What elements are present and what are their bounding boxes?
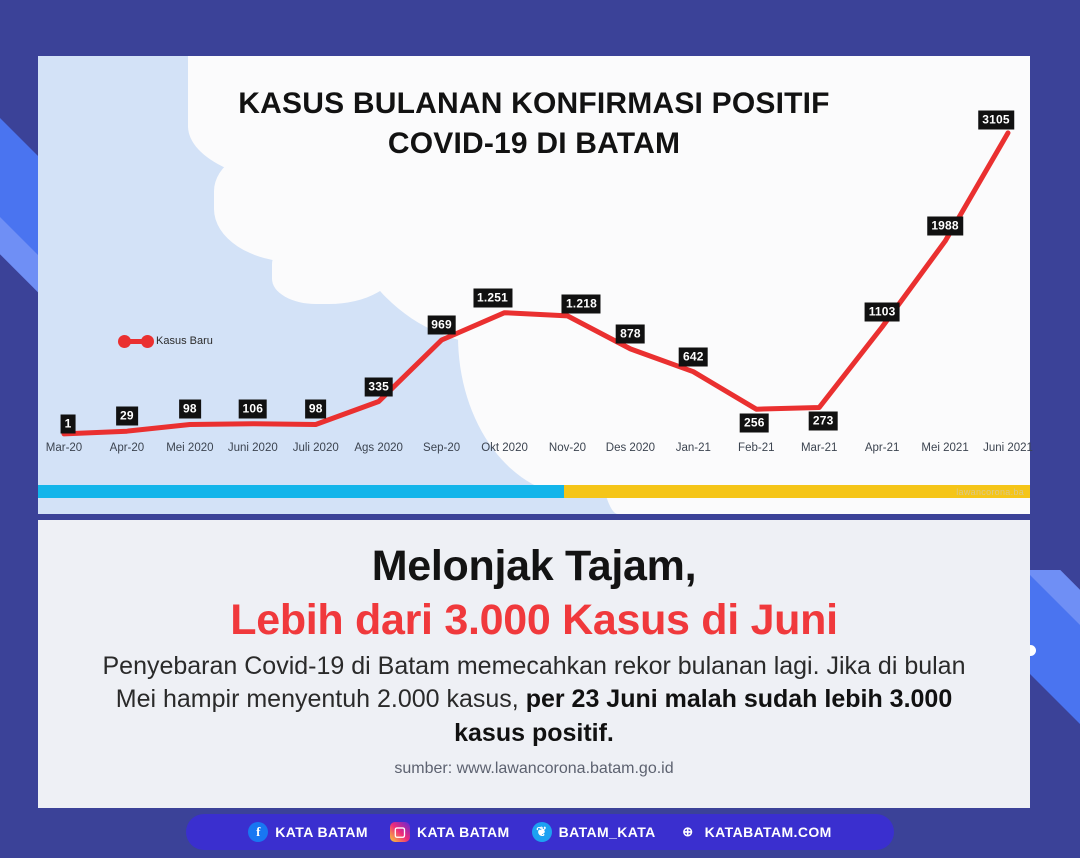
data-point-label: 642 <box>679 347 708 366</box>
data-point-label: 969 <box>427 316 456 335</box>
data-point-label: 273 <box>809 411 838 430</box>
decorative-color-strip <box>38 485 1030 498</box>
x-axis-tick-label: Nov-20 <box>549 442 586 454</box>
facebook-icon[interactable]: f <box>248 822 268 842</box>
x-axis-tick-label: Mar-20 <box>46 442 82 454</box>
data-point-label: 1.251 <box>473 288 512 307</box>
x-axis-tick-label: Juli 2020 <box>293 442 339 454</box>
x-axis-tick-label: Juni 2020 <box>228 442 278 454</box>
strip-cyan-segment <box>38 485 564 498</box>
chart-legend: Kasus Baru <box>118 334 213 348</box>
social-link[interactable]: ❦BATAM_KATA <box>532 822 656 842</box>
legend-label: Kasus Baru <box>156 335 213 347</box>
social-label: BATAM_KATA <box>559 824 656 840</box>
chart-title-line-2: COVID-19 DI BATAM <box>38 124 1030 164</box>
data-point-label: 98 <box>179 400 201 419</box>
headline-primary: Melonjak Tajam, <box>38 542 1030 591</box>
data-point-label: 335 <box>364 377 393 396</box>
data-point-label: 256 <box>740 414 769 433</box>
summary-card: Melonjak Tajam, Lebih dari 3.000 Kasus d… <box>38 520 1030 808</box>
globe-icon[interactable]: ⊕ <box>678 822 698 842</box>
twitter-icon[interactable]: ❦ <box>532 822 552 842</box>
social-footer-bar: fKATA BATAM▢KATA BATAM❦BATAM_KATA⊕KATABA… <box>186 814 894 850</box>
data-point-label: 106 <box>238 399 267 418</box>
page-title: KASUS BULANAN KONFIRMASI POSITIF COVID-1… <box>38 84 1030 164</box>
data-point-label: 1988 <box>927 217 963 236</box>
headline-secondary: Lebih dari 3.000 Kasus di Juni <box>38 596 1030 645</box>
x-axis-tick-label: Jan-21 <box>676 442 711 454</box>
source-line: sumber: www.lawancorona.batam.go.id <box>38 760 1030 778</box>
data-point-label: 29 <box>116 407 138 426</box>
infographic-root: KASUS BULANAN KONFIRMASI POSITIF COVID-1… <box>0 0 1080 858</box>
social-link[interactable]: ⊕KATABATAM.COM <box>678 822 832 842</box>
social-label: KATA BATAM <box>275 824 368 840</box>
x-axis-tick-label: Juni 2021 <box>983 442 1033 454</box>
data-point-label: 1103 <box>865 303 900 322</box>
watermark-text: lawancorona.ba <box>956 487 1024 497</box>
chart-title-line-1: KASUS BULANAN KONFIRMASI POSITIF <box>38 84 1030 124</box>
social-link[interactable]: ▢KATA BATAM <box>390 822 510 842</box>
body-text-bold: per 23 Juni malah sudah lebih 3.000 kasu… <box>454 685 952 746</box>
data-point-label: 98 <box>305 400 327 419</box>
social-link[interactable]: fKATA BATAM <box>248 822 368 842</box>
chart-card: KASUS BULANAN KONFIRMASI POSITIF COVID-1… <box>38 56 1030 514</box>
body-paragraph: Penyebaran Covid-19 di Batam memecahkan … <box>96 650 972 750</box>
data-point-label: 1 <box>61 414 76 433</box>
legend-line-marker-icon <box>118 334 154 348</box>
x-axis-tick-label: Okt 2020 <box>481 442 528 454</box>
x-axis-tick-label: Ags 2020 <box>354 442 403 454</box>
instagram-icon[interactable]: ▢ <box>390 822 410 842</box>
x-axis-tick-label: Feb-21 <box>738 442 774 454</box>
x-axis-tick-label: Mei 2021 <box>921 442 968 454</box>
x-axis-tick-label: Mei 2020 <box>166 442 213 454</box>
x-axis-tick-label: Apr-20 <box>110 442 145 454</box>
data-point-label: 1.218 <box>562 294 601 313</box>
x-axis-tick-label: Apr-21 <box>865 442 900 454</box>
x-axis-tick-label: Sep-20 <box>423 442 460 454</box>
data-point-label: 878 <box>616 324 645 343</box>
x-axis-tick-label: Mar-21 <box>801 442 837 454</box>
social-label: KATA BATAM <box>417 824 510 840</box>
social-label: KATABATAM.COM <box>705 824 832 840</box>
x-axis-tick-label: Des 2020 <box>606 442 655 454</box>
